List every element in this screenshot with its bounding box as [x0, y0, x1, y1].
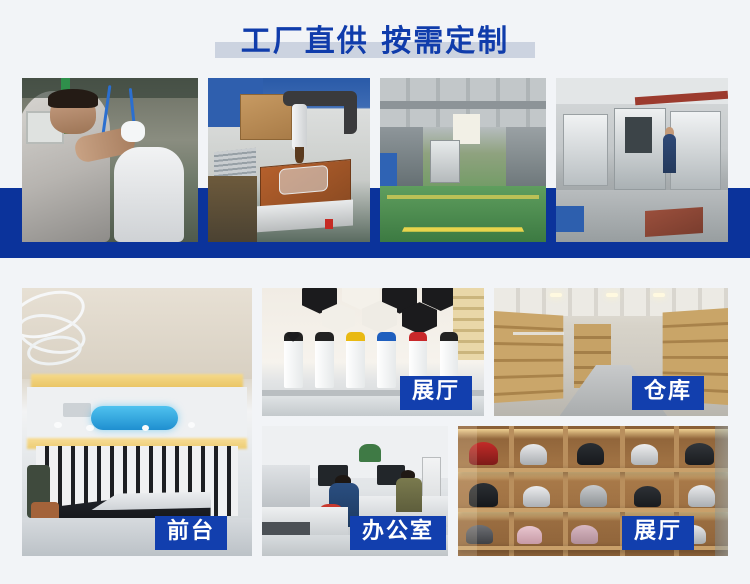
unit-top	[409, 332, 428, 341]
shelf-board-1	[458, 468, 728, 472]
appliance-8	[580, 485, 607, 507]
blue-light-panel	[91, 406, 178, 430]
shelf-divider-2	[563, 426, 568, 556]
appliance-10	[688, 485, 715, 507]
desk-plant	[359, 444, 381, 462]
purifier-unit-2	[315, 332, 334, 388]
downlight-1	[54, 422, 61, 428]
unit-top	[377, 332, 396, 341]
shelf-divider-1	[509, 426, 514, 556]
label-showroom-appliances: 展厅	[622, 516, 694, 550]
carton-stack-left	[494, 311, 563, 403]
right-wall-edge	[715, 426, 729, 556]
shelf-tape-label	[513, 332, 564, 335]
facility-photo-grid: 中山市群隆电器有限公司 前台 展厅	[0, 0, 750, 584]
downlight-2	[86, 425, 93, 431]
unit-top	[440, 332, 459, 341]
ceiling-lamp-1	[550, 293, 562, 297]
ceiling-lamp-2	[606, 293, 618, 297]
unit-top	[315, 332, 334, 341]
downlight-3	[142, 425, 149, 431]
label-reception: 前台	[155, 516, 227, 550]
page-title: 工厂直供 按需定制	[241, 16, 509, 60]
label-warehouse: 仓库	[632, 376, 704, 410]
appliance-7	[523, 486, 550, 507]
appliance-12	[517, 526, 541, 544]
shelf-glow-1	[458, 429, 728, 439]
appliance-9	[634, 486, 661, 507]
left-light-wash	[458, 426, 477, 556]
shelf-board-2	[458, 508, 728, 512]
appliance-4	[631, 444, 658, 465]
appliance-13	[571, 525, 598, 545]
ceiling-vent	[63, 403, 91, 416]
appliance-2	[520, 444, 547, 465]
appliance-3	[577, 443, 604, 465]
label-showroom-purifiers: 展厅	[400, 376, 472, 410]
appliance-5	[685, 443, 715, 465]
shelf-glow-2	[458, 470, 728, 480]
purifier-unit-3	[346, 332, 365, 388]
ceiling-lamp-3	[653, 293, 665, 297]
purifier-unit-4	[377, 332, 396, 388]
file-cabinet	[262, 465, 310, 512]
employee-2-body	[396, 478, 422, 512]
unit-top	[346, 332, 365, 341]
label-office: 办公室	[350, 516, 446, 550]
